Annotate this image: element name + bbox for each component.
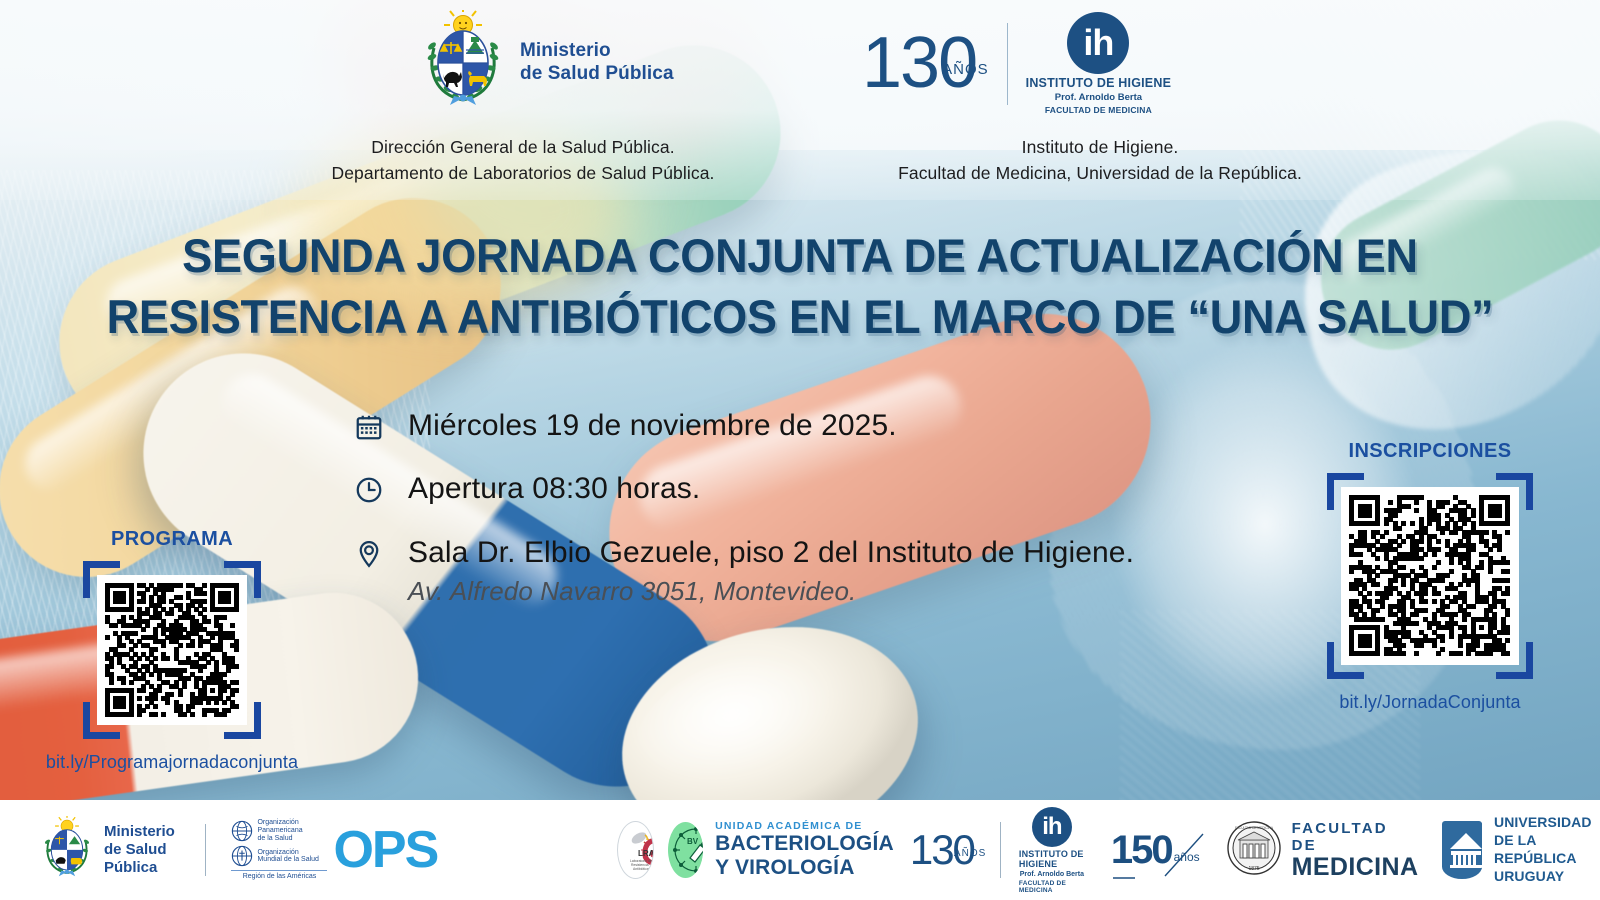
udelar-shield-icon: [1442, 821, 1482, 879]
footer-divider: [205, 824, 206, 876]
facultad-medicina-seal-icon: 1875 FACULTAD DE MEDICINA: [1226, 820, 1282, 881]
udelar-line3: URUGUAY: [1494, 868, 1600, 886]
who-line2: Mundial de la Salud: [257, 856, 319, 864]
qr-programa-frame: [83, 561, 261, 739]
qr-corner-bottom-right: [224, 702, 261, 739]
bv-monogram: BV: [687, 837, 699, 846]
qr-programa-label: PROGRAMA: [32, 528, 312, 551]
detail-date-text: Miércoles 19 de noviembre de 2025.: [408, 408, 897, 443]
bacteriologia-virologia-logo-icon: BV: [668, 822, 703, 878]
qr-inscripciones-frame: [1327, 473, 1533, 679]
organizer-right-line2: Facultad de Medicina, Universidad de la …: [790, 160, 1410, 186]
ops-acronym: OPS: [333, 824, 437, 876]
qr-programa-url[interactable]: bit.ly/Programajornadaconjunta: [32, 752, 312, 773]
qr-corner-bottom-left: [1327, 642, 1364, 679]
organizer-left-line1: Dirección General de la Salud Pública.: [238, 134, 808, 160]
seal-year: 1875: [1248, 866, 1259, 872]
facultad-line1: FACULTAD DE: [1292, 820, 1419, 854]
qr-inscripciones-url[interactable]: bit.ly/JornadaConjunta: [1280, 692, 1580, 713]
anniversary-150-logo: 150 años: [1111, 832, 1200, 868]
paho-region-line: Región de las Américas: [231, 870, 327, 881]
paho-line2: Panamericana: [257, 827, 302, 835]
msp-logo-line1: Ministerio: [520, 40, 674, 62]
msp-logo-text: Ministerio de Salud Pública: [520, 40, 674, 85]
qr-block-inscripciones[interactable]: INSCRIPCIONES bit.ly/JornadaConjunta: [1280, 440, 1580, 713]
qr-inscripciones-label: INSCRIPCIONES: [1280, 440, 1580, 463]
footer-ops-logo: Organización Panamericana de la Salud Or…: [231, 819, 437, 881]
anniversary-130: 130 AÑOS: [862, 35, 989, 93]
paho-line1: Organización: [257, 819, 302, 827]
detail-row-date: Miércoles 19 de noviembre de 2025.: [352, 408, 1312, 443]
organizer-right-line1: Instituto de Higiene.: [790, 134, 1410, 160]
event-poster: Ministerio de Salud Pública 130 AÑOS ih …: [0, 0, 1600, 900]
poster-footer: Ministerio de Salud Pública Organización: [0, 800, 1600, 900]
detail-row-time: Apertura 08:30 horas.: [352, 471, 1312, 506]
footer-msp-line2: de Salud Pública: [104, 841, 175, 877]
detail-venue-address: Av. Alfredo Navarro 3051, Montevideo.: [408, 576, 1134, 607]
qr-corner-bottom-right: [1496, 642, 1533, 679]
uruguay-coat-of-arms-icon: [40, 816, 94, 885]
who-emblem-icon: [231, 845, 253, 867]
svg-text:Antibiótica: Antibiótica: [633, 867, 649, 871]
location-pin-icon: [352, 535, 386, 569]
paho-who-marks: Organización Panamericana de la Salud Or…: [231, 819, 327, 881]
poster-header: Ministerio de Salud Pública 130 AÑOS ih …: [0, 0, 1600, 190]
ih-line2: Prof. Arnoldo Berta: [1055, 92, 1142, 103]
ih-monogram-icon: ih: [1067, 12, 1129, 74]
udelar-line2: DE LA REPÚBLICA: [1494, 832, 1600, 868]
poster-title: SEGUNDA JORNADA CONJUNTA DE ACTUALIZACIÓ…: [32, 225, 1568, 347]
footer-instituto-higiene-logo: ih INSTITUTO DE HIGIENE Prof. Arnoldo Be…: [1019, 807, 1085, 894]
qr-corner-top-right: [1496, 473, 1533, 510]
lra-logo-icon: LRA Laboratorio de Resistencia Antibióti…: [617, 821, 654, 879]
unidad-academica-line1: BACTERIOLOGÍA: [715, 832, 894, 856]
udelar-logo: UNIVERSIDAD DE LA REPÚBLICA URUGUAY: [1442, 814, 1600, 886]
footer-anniversary-130: 130 AÑOS: [910, 833, 986, 867]
paho-globe-icon: [231, 820, 253, 842]
anniversary-150-word: años: [1174, 850, 1200, 864]
qr-inscripciones-code[interactable]: [1341, 487, 1519, 665]
unidad-academica-line0: UNIDAD ACADÉMICA DE: [715, 821, 894, 833]
paho-line3: de la Salud: [257, 835, 302, 843]
footer-anniversary-word: AÑOS: [954, 848, 986, 859]
footer-msp-line1: Ministerio: [104, 823, 175, 841]
footer-ih-line1: INSTITUTO DE HIGIENE: [1019, 849, 1085, 869]
anniversary-150-number: 150: [1111, 832, 1172, 868]
qr-corner-top-right: [224, 561, 261, 598]
calendar-icon: [352, 408, 386, 442]
footer-divider: [1000, 822, 1001, 878]
footer-ih-line2: Prof. Arnoldo Berta: [1020, 871, 1084, 878]
ih-monogram-icon: ih: [1032, 807, 1072, 847]
event-details: Miércoles 19 de noviembre de 2025. Apert…: [352, 408, 1312, 635]
msp-logo-line2: de Salud Pública: [520, 63, 674, 85]
anniversary-word: AÑOS: [942, 61, 989, 78]
organizer-left-line2: Departamento de Laboratorios de Salud Pú…: [238, 160, 808, 186]
who-line1: Organización: [257, 849, 319, 857]
unidad-academica-line2: Y VIROLOGÍA: [715, 856, 894, 880]
unidad-academica-logo: UNIDAD ACADÉMICA DE BACTERIOLOGÍA Y VIRO…: [715, 821, 894, 880]
instituto-higiene-logo: 130 AÑOS ih INSTITUTO DE HIGIENE Prof. A…: [862, 12, 1171, 115]
facultad-medicina-logo: 1875 FACULTAD DE MEDICINA FACULTAD DE ME…: [1226, 820, 1419, 881]
organizer-left: Dirección General de la Salud Pública. D…: [238, 134, 808, 187]
ih-line1: INSTITUTO DE HIGIENE: [1026, 76, 1171, 90]
udelar-line1: UNIVERSIDAD: [1494, 814, 1600, 832]
detail-row-venue: Sala Dr. Elbio Gezuele, piso 2 del Insti…: [352, 535, 1312, 607]
qr-block-programa[interactable]: PROGRAMA bit.ly/Programajornadaconjunta: [32, 528, 312, 773]
footer-ih-line3: FACULTAD DE MEDICINA: [1019, 880, 1085, 894]
uruguay-coat-of-arms-icon: [420, 10, 506, 115]
msp-logo: Ministerio de Salud Pública: [420, 10, 674, 115]
ih-line3: FACULTAD DE MEDICINA: [1045, 105, 1152, 115]
qr-corner-top-left: [83, 561, 120, 598]
qr-corner-bottom-left: [83, 702, 120, 739]
lra-acronym: LRA: [638, 849, 654, 858]
detail-time-text: Apertura 08:30 horas.: [408, 471, 700, 506]
detail-venue-text: Sala Dr. Elbio Gezuele, piso 2 del Insti…: [408, 535, 1134, 570]
qr-corner-top-left: [1327, 473, 1364, 510]
facultad-line2: MEDICINA: [1292, 854, 1419, 880]
logo-divider: [1007, 23, 1008, 105]
footer-msp-logo: Ministerio de Salud Pública: [40, 816, 175, 885]
organizer-right: Instituto de Higiene. Facultad de Medici…: [790, 134, 1410, 187]
svg-text:FACULTAD DE MEDICINA: FACULTAD DE MEDICINA: [1235, 826, 1274, 830]
clock-icon: [352, 471, 386, 505]
